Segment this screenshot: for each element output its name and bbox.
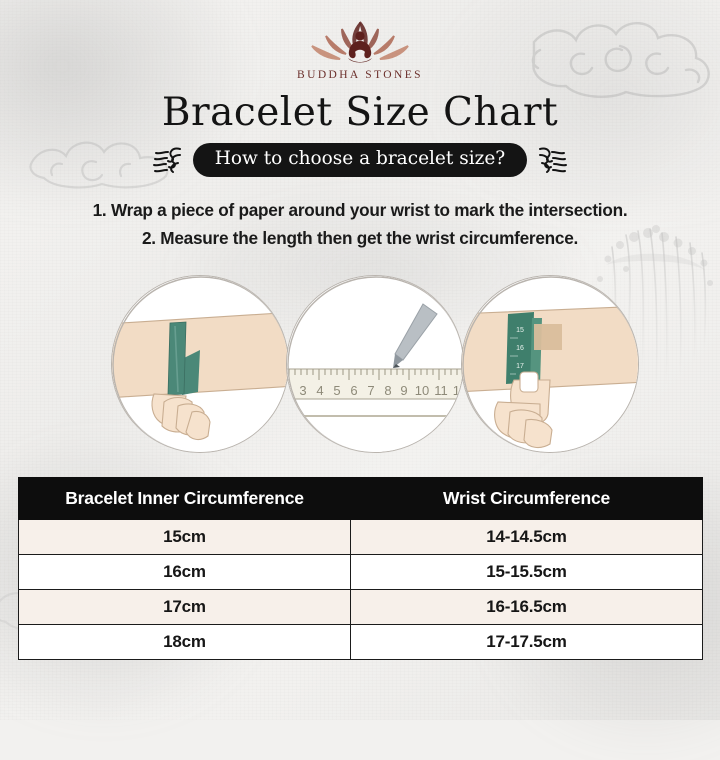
- table-row: 17cm 16-16.5cm: [19, 590, 703, 625]
- svg-text:16: 16: [516, 345, 524, 352]
- svg-text:4: 4: [316, 383, 323, 398]
- size-chart-table: Bracelet Inner Circumference Wrist Circu…: [18, 477, 703, 660]
- cell-inner-circumference: 15cm: [19, 520, 351, 555]
- cell-wrist-circumference: 15-15.5cm: [351, 555, 703, 590]
- svg-text:10: 10: [415, 383, 429, 398]
- svg-text:8: 8: [384, 383, 391, 398]
- cell-wrist-circumference: 16-16.5cm: [351, 590, 703, 625]
- cell-wrist-circumference: 17-17.5cm: [351, 625, 703, 660]
- illustration-ruler-and-pencil: 345 678 91011 12: [286, 275, 464, 453]
- illustration-measuring-tape-on-wrist: 151617: [461, 275, 639, 453]
- page-title: Bracelet Size Chart: [0, 90, 720, 135]
- subtitle-row: How to choose a bracelet size?: [0, 143, 720, 177]
- lotus-meditation-icon: [304, 16, 416, 68]
- svg-text:5: 5: [333, 383, 340, 398]
- svg-text:3: 3: [299, 383, 306, 398]
- flourish-ornament-icon-right: [536, 143, 570, 177]
- cell-wrist-circumference: 14-14.5cm: [351, 520, 703, 555]
- svg-text:11: 11: [434, 383, 448, 398]
- brand-name: BUDDHA STONES: [0, 69, 720, 81]
- instructions: 1. Wrap a piece of paper around your wri…: [0, 196, 720, 252]
- illustration-wrist-with-paper-strip: [111, 275, 289, 453]
- table-row: 15cm 14-14.5cm: [19, 520, 703, 555]
- svg-text:12: 12: [453, 383, 464, 398]
- svg-text:6: 6: [350, 383, 357, 398]
- table-header-row: Bracelet Inner Circumference Wrist Circu…: [19, 478, 703, 520]
- instruction-step-2: 2. Measure the length then get the wrist…: [0, 224, 720, 252]
- table-row: 18cm 17-17.5cm: [19, 625, 703, 660]
- svg-text:7: 7: [367, 383, 374, 398]
- column-header-inner-circumference: Bracelet Inner Circumference: [19, 478, 351, 520]
- illustration-row: 345 678 91011 12 151617: [0, 272, 720, 462]
- cell-inner-circumference: 16cm: [19, 555, 351, 590]
- svg-text:17: 17: [516, 363, 524, 370]
- subtitle-pill: How to choose a bracelet size?: [193, 143, 527, 176]
- column-header-wrist-circumference: Wrist Circumference: [351, 478, 703, 520]
- svg-text:9: 9: [400, 383, 407, 398]
- cell-inner-circumference: 17cm: [19, 590, 351, 625]
- instruction-step-1: 1. Wrap a piece of paper around your wri…: [0, 196, 720, 224]
- cell-inner-circumference: 18cm: [19, 625, 351, 660]
- table-row: 16cm 15-15.5cm: [19, 555, 703, 590]
- brand-logo: BUDDHA STONES: [0, 16, 720, 81]
- svg-text:15: 15: [516, 327, 524, 334]
- flourish-ornament-icon-left: [150, 143, 184, 177]
